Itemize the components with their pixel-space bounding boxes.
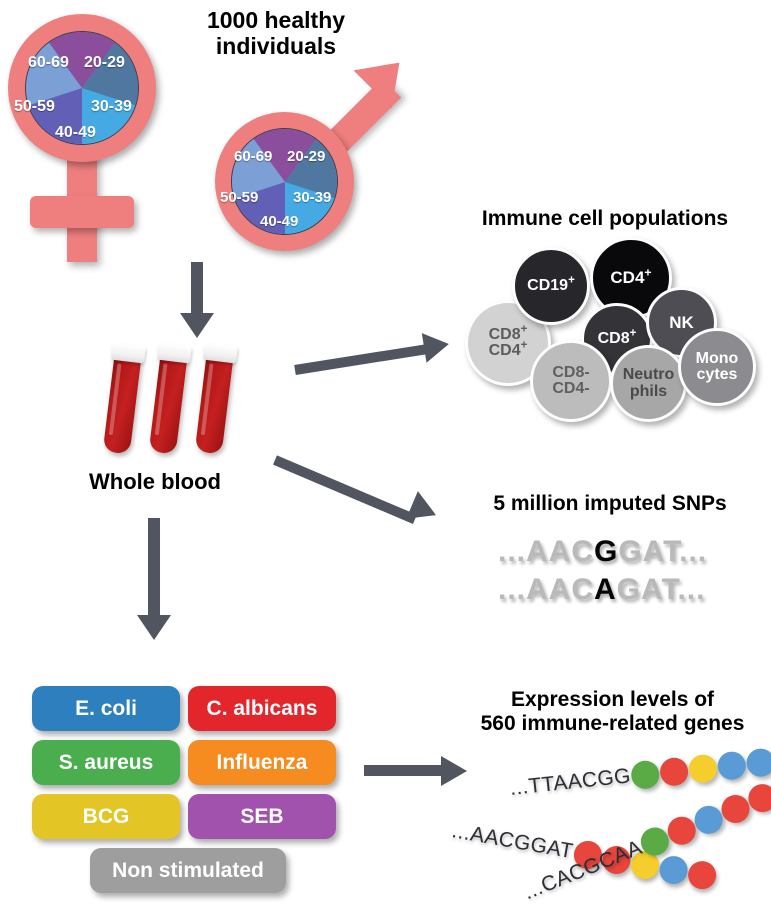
immune-cell-cd8cd4-neg: CD8- CD4- [530, 340, 612, 422]
immune-cell-heading: Immune cell populations [455, 207, 755, 231]
pie-label-50-59: 50-59 [220, 189, 258, 206]
pie-label-40-49: 40-49 [55, 124, 96, 142]
pie-label-50-59: 50-59 [14, 98, 55, 116]
immune-cell-cd8-label: CD8+ [598, 331, 637, 347]
snp-sequence-2: ...AACAGAT... [498, 573, 705, 607]
immune-cell-cd4-label: CD4+ [610, 269, 651, 286]
pie-label-40-49: 40-49 [260, 213, 298, 230]
cd8-neg-line: CD8- [552, 365, 589, 381]
stimulus-c-albicans[interactable]: C. albicans [188, 686, 336, 731]
cohort-heading: 1000 healthy individuals [170, 8, 382, 60]
snp-variant-2: A [594, 573, 617, 607]
rna-bead [657, 854, 689, 886]
snp-prefix-1: ...AAC [498, 535, 594, 569]
cd4-pos-line: CD4+ [489, 343, 528, 359]
immune-cell-neutrophils: Neutro phils [610, 345, 687, 422]
blood-tubes [108, 340, 258, 470]
pie-label-30-39: 30-39 [293, 189, 331, 206]
rna-bead [717, 750, 748, 781]
rna-bead [659, 756, 690, 787]
expression-heading: Expression levels of 560 immune-related … [460, 688, 765, 735]
neutrophils-line1: Neutro [623, 367, 675, 383]
rna-letters-1: ...TTAACGG [509, 764, 632, 801]
immune-cell-cd19: CD19+ [512, 247, 590, 325]
pie-label-30-39: 30-39 [91, 98, 132, 116]
rna-strands: ...TTAACGG ...AACGGAT ...CACGCAA [440, 745, 771, 920]
rna-bead [746, 747, 771, 778]
stimulus-e-coli[interactable]: E. coli [32, 686, 180, 731]
immune-cell-nk-label: NK [669, 314, 694, 331]
female-symbol-crossbar [30, 196, 134, 228]
snp-variant-1: G [594, 535, 618, 569]
rna-letters-2: ...AACGGAT [450, 819, 575, 864]
snp-sequence-1: ...AACGGAT... [498, 535, 707, 569]
monocytes-line1: Mono [696, 351, 739, 367]
immune-cell-cluster: CD8+ CD4+ CD19+ CD4+ CD8+ NK CD8- CD4- N… [450, 235, 771, 405]
snp-suffix-1: GAT... [618, 535, 707, 569]
pie-label-20-29: 20-29 [84, 54, 125, 72]
pie-label-20-29: 20-29 [287, 148, 325, 165]
whole-blood-label: Whole blood [60, 470, 250, 495]
cohort-heading-line1: 1000 healthy [170, 8, 382, 34]
pie-label-60-69: 60-69 [28, 54, 69, 72]
expression-heading-line1: Expression levels of [460, 688, 765, 712]
cohort-heading-line2: individuals [170, 34, 382, 60]
immune-cell-cd19-label: CD19+ [527, 278, 575, 294]
pie-label-60-69: 60-69 [234, 148, 272, 165]
monocytes-line2: cytes [696, 367, 739, 383]
snp-prefix-2: ...AAC [498, 573, 594, 607]
snp-suffix-2: GAT... [617, 573, 706, 607]
cd4-neg-line: CD4- [552, 381, 589, 397]
expression-heading-line2: 560 immune-related genes [460, 712, 765, 736]
stimulus-non-stimulated[interactable]: Non stimulated [90, 848, 286, 893]
stimulus-s-aureus[interactable]: S. aureus [32, 740, 180, 785]
rna-bead [688, 753, 719, 784]
rna-bead [630, 759, 661, 790]
immune-cell-monocytes: Mono cytes [678, 328, 756, 406]
stimulus-bcg[interactable]: BCG [32, 794, 180, 839]
neutrophils-line2: phils [623, 384, 675, 400]
stimuli-panel: E. coli C. albicans S. aureus Influenza … [32, 686, 344, 896]
snp-heading: 5 million imputed SNPs [470, 492, 750, 516]
rna-bead [686, 859, 718, 891]
stimulus-seb[interactable]: SEB [188, 794, 336, 839]
stimulus-influenza[interactable]: Influenza [188, 740, 336, 785]
